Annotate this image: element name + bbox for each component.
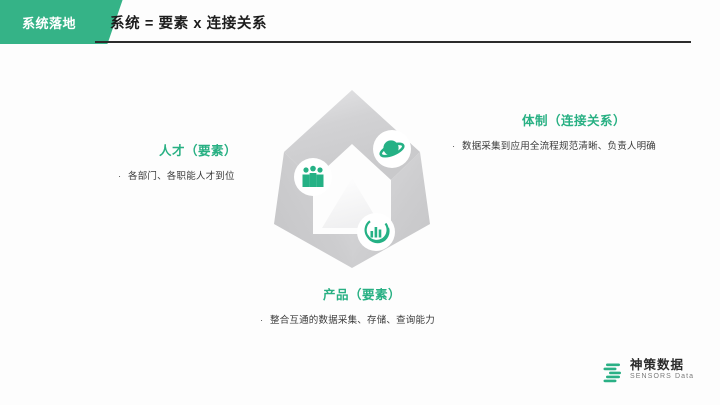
block-product-bullet: ·整合互通的数据采集、存储、查询能力 bbox=[242, 312, 482, 326]
block-product-bullet-text: 整合互通的数据采集、存储、查询能力 bbox=[270, 315, 435, 326]
block-product-heading: 产品（要素） bbox=[242, 284, 482, 303]
block-system-bullet-text: 数据采集到应用全流程规范清晰、负责人明确 bbox=[462, 141, 656, 152]
block-talent: 人才（要素） ·各部门、各职能人才到位 bbox=[108, 140, 288, 182]
bar-chart-circle-icon bbox=[357, 213, 395, 251]
brand-name-cn: 神策数据 bbox=[630, 358, 694, 372]
planet-icon bbox=[373, 130, 411, 168]
brand-logo: 神策数据 SENSORS Data bbox=[602, 358, 702, 388]
block-talent-bullet: ·各部门、各职能人才到位 bbox=[108, 168, 288, 182]
block-product: 产品（要素） ·整合互通的数据采集、存储、查询能力 bbox=[242, 284, 482, 326]
section-badge-label: 系统落地 bbox=[22, 13, 112, 32]
bullet-marker: · bbox=[118, 171, 128, 182]
block-system-heading: 体制（连接关系） bbox=[452, 110, 696, 129]
bullet-marker: · bbox=[260, 315, 270, 326]
block-talent-bullet-text: 各部门、各职能人才到位 bbox=[128, 171, 235, 182]
title-divider bbox=[95, 41, 691, 43]
brand-logo-text: 神策数据 SENSORS Data bbox=[630, 358, 694, 382]
people-group-icon bbox=[294, 158, 332, 196]
bullet-marker: · bbox=[452, 141, 462, 152]
page-title: 系统 = 要素 x 连接关系 bbox=[110, 12, 267, 33]
slide-canvas: 系统落地 系统 = 要素 x 连接关系 bbox=[0, 0, 720, 405]
sensors-s-mark-icon bbox=[602, 362, 626, 389]
block-talent-heading: 人才（要素） bbox=[108, 140, 288, 159]
brand-name-en: SENSORS Data bbox=[630, 372, 694, 382]
slide-header: 系统落地 系统 = 要素 x 连接关系 bbox=[0, 0, 720, 44]
block-system: 体制（连接关系） ·数据采集到应用全流程规范清晰、负责人明确 bbox=[452, 110, 696, 152]
block-system-bullet: ·数据采集到应用全流程规范清晰、负责人明确 bbox=[452, 138, 696, 152]
